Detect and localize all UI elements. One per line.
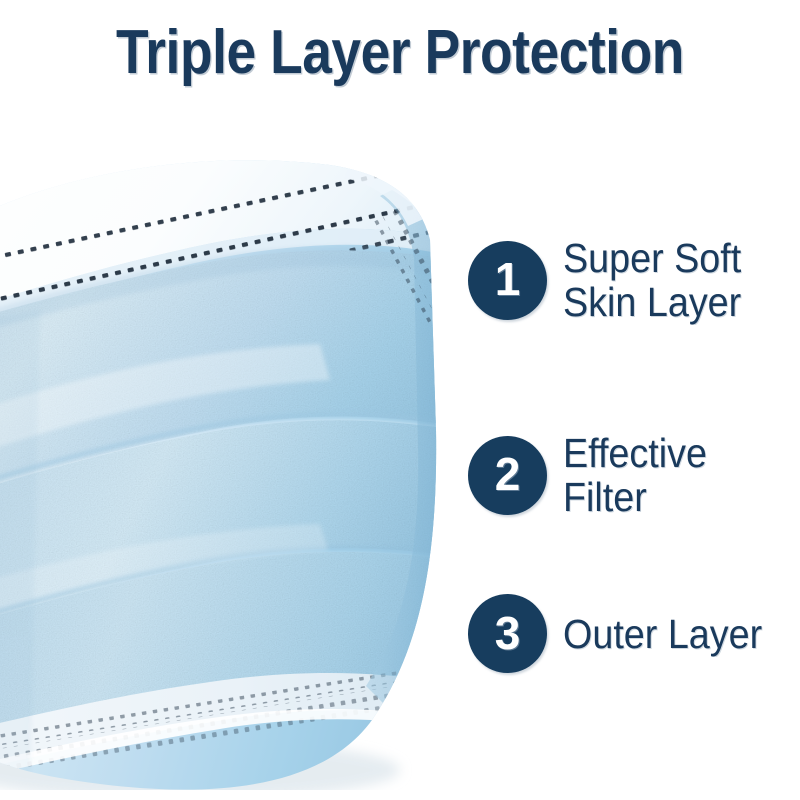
feature-badge-3: 3: [468, 594, 547, 673]
feature-item-3[interactable]: 3 Outer Layer: [468, 594, 800, 673]
feature-label-2: Effective Filter: [563, 431, 781, 519]
face-mask-illustration: [0, 130, 460, 790]
face-mask-product-image: [0, 130, 460, 790]
feature-badge-2: 2: [468, 436, 547, 515]
infographic-canvas: Triple Layer Protection: [0, 0, 800, 800]
feature-item-2[interactable]: 2 Effective Filter: [468, 431, 800, 519]
page-title: Triple Layer Protection: [56, 18, 744, 88]
mask-body-group: [0, 130, 460, 790]
feature-label-1: Super Soft Skin Layer: [563, 236, 741, 324]
feature-list: 1 Super Soft Skin Layer 2 Effective Filt…: [468, 226, 800, 706]
feature-item-1[interactable]: 1 Super Soft Skin Layer: [468, 236, 800, 324]
feature-label-3: Outer Layer: [563, 612, 762, 656]
feature-badge-1: 1: [468, 241, 547, 320]
